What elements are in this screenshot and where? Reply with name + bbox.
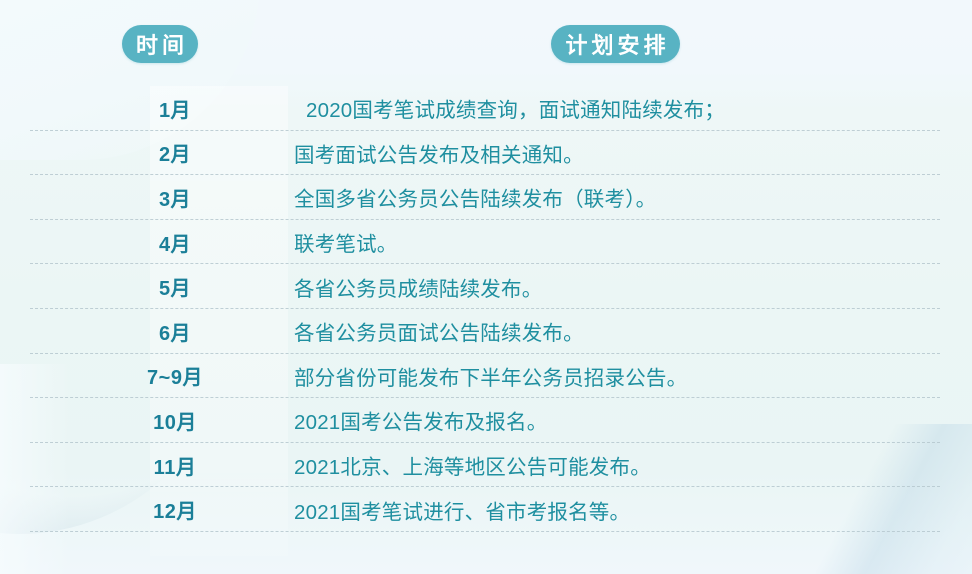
table-row: 6月各省公务员面试公告陆续发布。 [0, 309, 972, 354]
cell-plan: 2020国考笔试成绩查询，面试通知陆续发布； [306, 93, 932, 123]
cell-plan: 2021国考公告发布及报名。 [294, 405, 932, 435]
column-header-time: 时间 [122, 25, 198, 63]
table-row: 4月联考笔试。 [0, 220, 972, 265]
cell-plan: 各省公务员面试公告陆续发布。 [294, 316, 932, 346]
cell-plan: 全国多省公务员公告陆续发布（联考）。 [294, 182, 932, 212]
row-separator [30, 531, 940, 532]
table-row: 10月2021国考公告发布及报名。 [0, 398, 972, 443]
cell-month: 10月 [100, 406, 250, 435]
cell-plan: 2021北京、上海等地区公告可能发布。 [294, 450, 932, 480]
cell-month: 3月 [100, 183, 250, 212]
cell-month: 2月 [100, 138, 250, 167]
table-row: 11月2021北京、上海等地区公告可能发布。 [0, 443, 972, 488]
table-row: 12月2021国考笔试进行、省市考报名等。 [0, 487, 972, 532]
table-row: 2月国考面试公告发布及相关通知。 [0, 131, 972, 176]
cell-plan: 联考笔试。 [294, 227, 932, 257]
cell-plan: 国考面试公告发布及相关通知。 [294, 138, 932, 168]
cell-plan: 2021国考笔试进行、省市考报名等。 [294, 495, 932, 525]
table-row: 3月全国多省公务员公告陆续发布（联考）。 [0, 175, 972, 220]
schedule-rows: 1月2020国考笔试成绩查询，面试通知陆续发布；2月国考面试公告发布及相关通知。… [0, 86, 972, 532]
cell-month: 4月 [100, 228, 250, 257]
table-row: 5月各省公务员成绩陆续发布。 [0, 264, 972, 309]
cell-plan: 部分省份可能发布下半年公务员招录公告。 [294, 361, 932, 391]
cell-month: 6月 [100, 317, 250, 346]
cell-month: 11月 [100, 451, 250, 480]
table-row: 1月2020国考笔试成绩查询，面试通知陆续发布； [0, 86, 972, 131]
cell-month: 12月 [100, 495, 250, 524]
cell-month: 7~9月 [100, 361, 250, 390]
cell-month: 5月 [100, 272, 250, 301]
cell-plan: 各省公务员成绩陆续发布。 [294, 272, 932, 302]
table-header: 时间 计划安排 [0, 0, 972, 86]
column-header-plan: 计划安排 [551, 25, 680, 63]
table-row: 7~9月部分省份可能发布下半年公务员招录公告。 [0, 354, 972, 399]
cell-month: 1月 [100, 94, 250, 123]
schedule-card: 时间 计划安排 1月2020国考笔试成绩查询，面试通知陆续发布；2月国考面试公告… [0, 0, 972, 574]
